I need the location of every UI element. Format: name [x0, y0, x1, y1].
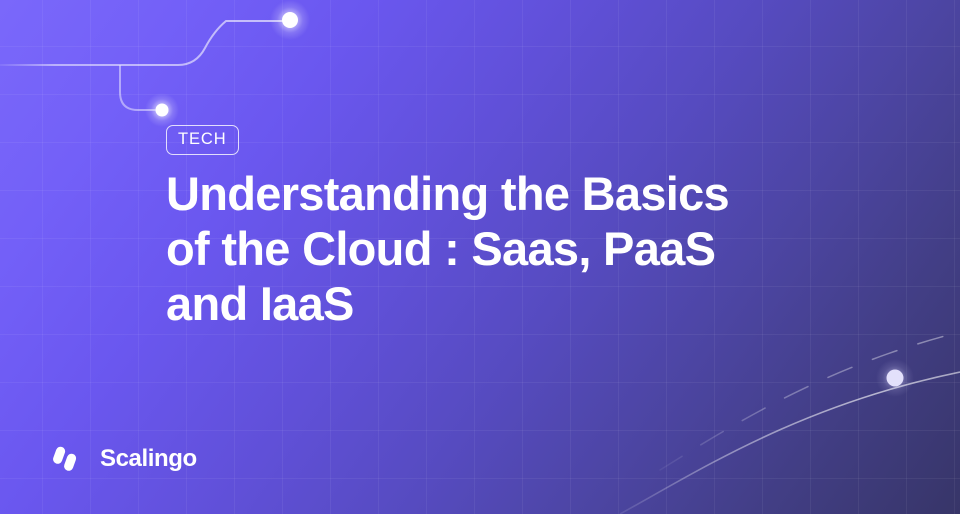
category-badge[interactable]: TECH — [166, 125, 239, 155]
brand-logo[interactable]: Scalingo — [52, 442, 197, 476]
brand-name: Scalingo — [100, 447, 197, 471]
circuit-trace-branch — [120, 66, 155, 110]
blog-banner-card: TECH Understanding the Basics of the Clo… — [0, 0, 960, 514]
scalingo-slash-mark-icon — [52, 442, 86, 476]
arc-node — [876, 359, 914, 397]
banner-content: TECH Understanding the Basics of the Clo… — [166, 0, 866, 514]
page-title: Understanding the Basics of the Cloud : … — [166, 166, 826, 331]
